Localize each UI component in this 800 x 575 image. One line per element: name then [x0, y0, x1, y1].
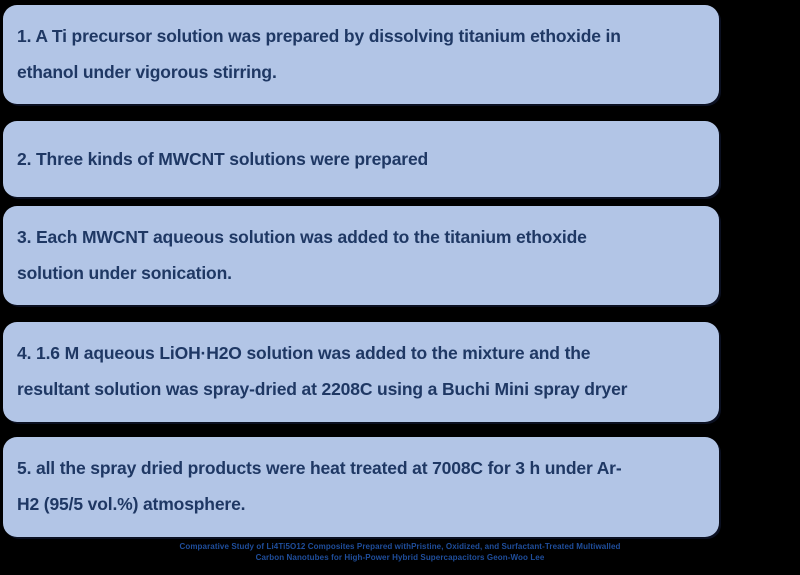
- step-box-3[interactable]: 3. Each MWCNT aqueous solution was added…: [3, 206, 719, 305]
- step-4-text: 4. 1.6 M aqueous LiOH·H2O solution was a…: [3, 336, 719, 408]
- step-5-text: 5. all the spray dried products were hea…: [3, 451, 719, 523]
- step-box-1[interactable]: 1. A Ti precursor solution was prepared …: [3, 5, 719, 104]
- step-box-5[interactable]: 5. all the spray dried products were hea…: [3, 437, 719, 537]
- step-box-4[interactable]: 4. 1.6 M aqueous LiOH·H2O solution was a…: [3, 322, 719, 422]
- slide-canvas: 1. A Ti precursor solution was prepared …: [0, 0, 800, 575]
- step-2-text: 2. Three kinds of MWCNT solutions were p…: [3, 149, 719, 170]
- step-3-text: 3. Each MWCNT aqueous solution was added…: [3, 220, 719, 292]
- step-1-text: 1. A Ti precursor solution was prepared …: [3, 19, 719, 91]
- slide-footer: Comparative Study of Li4Ti5O12 Composite…: [0, 541, 800, 563]
- footer-line-1: Comparative Study of Li4Ti5O12 Composite…: [0, 541, 800, 552]
- step-box-2[interactable]: 2. Three kinds of MWCNT solutions were p…: [3, 121, 719, 197]
- footer-line-2: Carbon Nanotubes for High-Power Hybrid S…: [0, 552, 800, 563]
